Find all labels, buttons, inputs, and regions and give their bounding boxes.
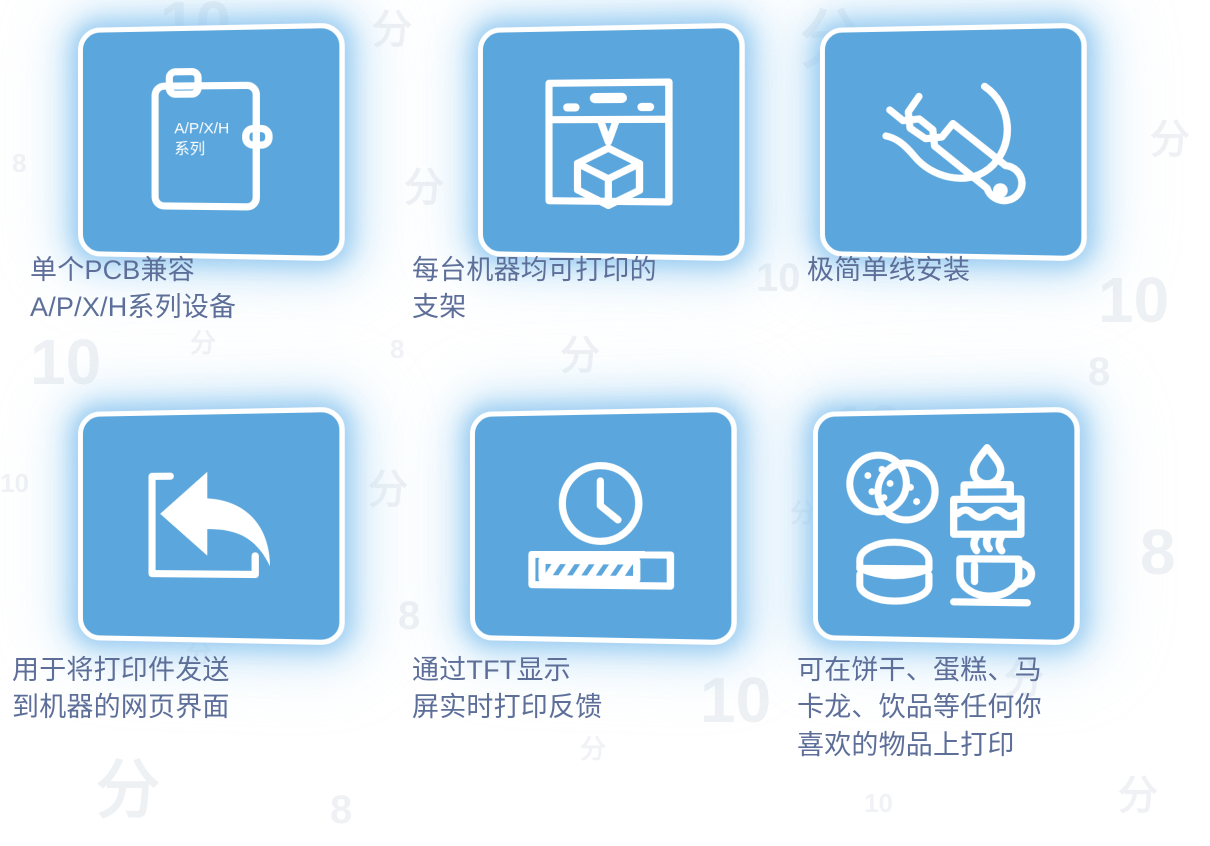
food-assortment-icon	[844, 443, 1047, 610]
tile-pcb-compatibility[interactable]: A/P/X/H 系列	[78, 23, 345, 262]
tile-wrapper	[478, 28, 736, 256]
tile-web-interface[interactable]	[78, 407, 345, 646]
tile-wrapper	[820, 28, 1078, 256]
feature-card-printable-foods[interactable]: 可在饼干、蛋糕、马 卡龙、饮品等任何你 喜欢的物品上打印	[785, 400, 1210, 846]
feature-card-tft-feedback[interactable]: 通过TFT显示 屏实时打印反馈	[400, 400, 785, 846]
caption-printable-foods: 可在饼干、蛋糕、马 卡龙、饮品等任何你 喜欢的物品上打印	[785, 652, 1097, 764]
caption-printable-bracket: 每台机器均可打印的 支架	[400, 252, 712, 327]
pcb-board-icon	[143, 64, 275, 219]
feature-card-printable-bracket[interactable]: 每台机器均可打印的 支架	[400, 0, 785, 400]
caption-web-interface: 用于将打印件发送 到机器的网页界面	[0, 652, 312, 727]
feature-card-simple-wiring[interactable]: 极简单线安装	[785, 0, 1210, 400]
3d-printer-icon	[541, 74, 677, 211]
feature-card-web-interface[interactable]: 用于将打印件发送 到机器的网页界面	[0, 400, 400, 846]
send-to-printer-arrow-icon	[142, 461, 276, 591]
caption-simple-wiring: 极简单线安装	[785, 252, 1107, 289]
tile-wrapper	[470, 412, 728, 640]
clock-progress-icon	[524, 458, 679, 595]
cookies-icon	[850, 454, 935, 519]
cake-icon	[954, 447, 1021, 534]
tile-simple-wiring[interactable]	[820, 23, 1087, 262]
tile-tft-feedback[interactable]	[470, 407, 737, 646]
feature-card-pcb-compatibility[interactable]: A/P/X/H 系列 单个PCB兼容 A/P/X/H系列设备	[0, 0, 400, 400]
tile-wrapper	[813, 412, 1071, 640]
tile-printable-bracket[interactable]	[478, 23, 745, 262]
tile-wrapper	[78, 412, 336, 640]
tile-wrapper: A/P/X/H 系列	[78, 28, 336, 256]
tile-printable-foods[interactable]	[813, 407, 1080, 646]
macaron-icon	[860, 542, 929, 601]
caption-pcb-compatibility: 单个PCB兼容 A/P/X/H系列设备	[0, 252, 330, 327]
coffee-cup-icon	[954, 534, 1032, 603]
caption-tft-feedback: 通过TFT显示 屏实时打印反馈	[400, 652, 712, 727]
wrench-cable-icon	[874, 69, 1029, 214]
feature-grid: A/P/X/H 系列 单个PCB兼容 A/P/X/H系列设备	[0, 0, 1210, 846]
